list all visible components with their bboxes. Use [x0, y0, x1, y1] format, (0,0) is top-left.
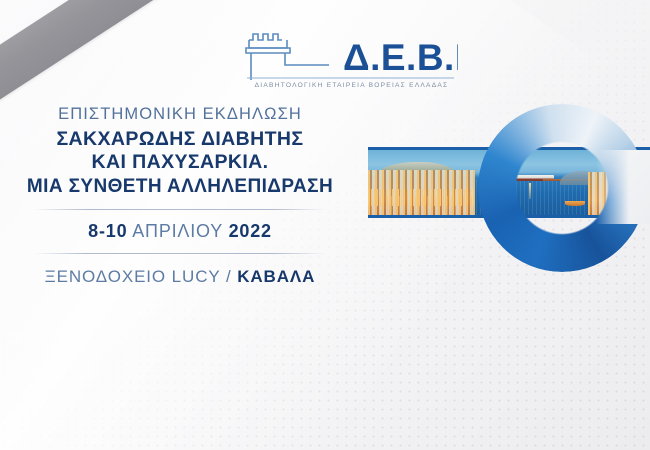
- venue-name: ΞΕΝΟΔΟΧΕΙΟ LUCY: [45, 267, 221, 286]
- photo-reflections: [371, 196, 473, 216]
- venue-separator: /: [226, 267, 232, 286]
- castle-tower-icon: Δ.Ε.Β.Ε.: [243, 20, 458, 82]
- event-date-days: 8-10: [88, 221, 127, 241]
- event-date: 8-10 ΑΠΡΙΛΙΟΥ 2022: [0, 221, 360, 242]
- debe-logo: Δ.Ε.Β.Ε. ΔΙΑΒΗΤΟΛΟΓΙΚΗ ΕΤΑΙΡΕΙΑ ΒΟΡΕΙΑΣ …: [243, 20, 458, 98]
- event-poster: Δ.Ε.Β.Ε. ΔΙΑΒΗΤΟΛΟΓΙΚΗ ΕΤΑΙΡΕΙΑ ΒΟΡΕΙΑΣ …: [0, 0, 650, 450]
- event-title-line-1: ΣΑΚΧΑΡΩΔΗΣ ΔΙΑΒΗΤΗΣ: [0, 128, 360, 152]
- event-date-month: ΑΠΡΙΛΙΟΥ: [132, 221, 223, 241]
- divider-top: [34, 209, 326, 210]
- divider-bottom: [34, 253, 326, 254]
- ring-opening-mask: [596, 150, 650, 224]
- event-details: ΕΠΙΣΤΗΜΟΝΙΚΗ ΕΚΔΗΛΩΣΗ ΣΑΚΧΑΡΩΔΗΣ ΔΙΑΒΗΤΗ…: [0, 104, 360, 287]
- event-title: ΣΑΚΧΑΡΩΔΗΣ ΔΙΑΒΗΤΗΣ ΚΑΙ ΠΑΧΥΣΑΡΚΙΑ. ΜΙΑ …: [0, 128, 360, 199]
- event-title-line-3: ΜΙΑ ΣΥΝΘΕΤΗ ΑΛΛΗΛΕΠΙΔΡΑΣΗ: [0, 175, 360, 198]
- logo-wordmark: Δ.Ε.Β.Ε.: [343, 37, 458, 78]
- event-kicker: ΕΠΙΣΤΗΜΟΝΙΚΗ ΕΚΔΗΛΩΣΗ: [0, 104, 360, 125]
- event-title-line-2: ΚΑΙ ΠΑΧΥΣΑΡΚΙΑ.: [0, 151, 360, 175]
- event-date-year: 2022: [229, 221, 272, 241]
- logo-subtitle: ΔΙΑΒΗΤΟΛΟΓΙΚΗ ΕΤΑΙΡΕΙΑ ΒΟΡΕΙΑΣ ΕΛΛΑΔΑΣ: [245, 82, 458, 89]
- event-venue: ΞΕΝΟΔΟΧΕΙΟ LUCY / ΚΑΒΑΛΑ: [0, 267, 360, 287]
- venue-city: ΚΑΒΑΛΑ: [237, 267, 315, 286]
